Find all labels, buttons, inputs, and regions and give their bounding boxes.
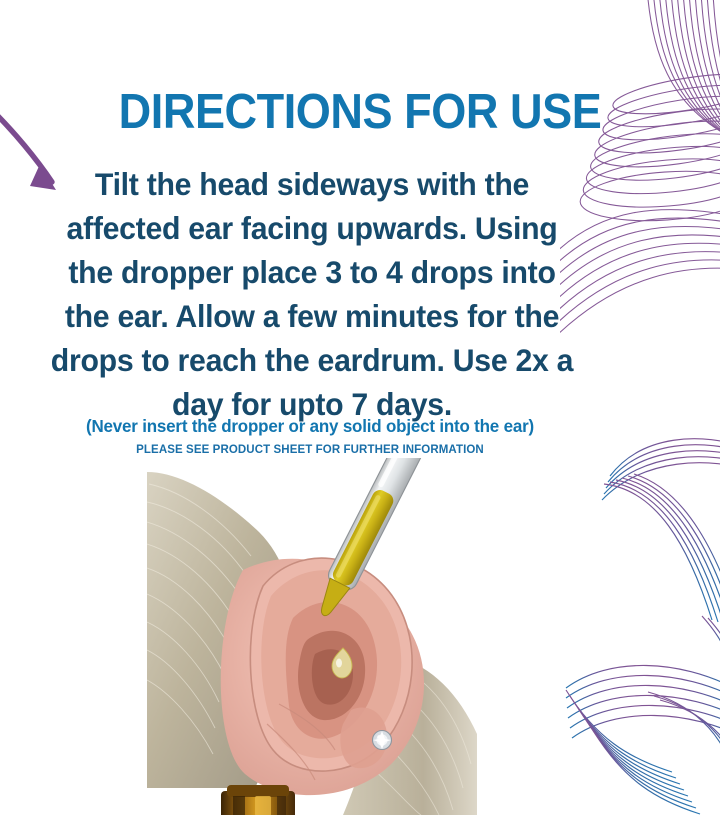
warning-note: (Never insert the dropper or any solid o…: [38, 415, 581, 437]
ear-drops-application-photo: [147, 458, 477, 815]
product-sheet-fineprint: PLEASE SEE PRODUCT SHEET FOR FURTHER INF…: [30, 442, 590, 458]
diamond-stud-earring: [373, 731, 392, 750]
ear-photo-illustration: [147, 458, 477, 815]
amber-bottle: [221, 785, 295, 815]
instructions-text: Tilt the head sideways with the affected…: [45, 162, 579, 426]
page-title: DIRECTIONS FOR USE: [29, 85, 691, 139]
purple-wireframe-spiral-decoration: [560, 0, 720, 346]
poster-page: DIRECTIONS FOR USE Tilt the head sideway…: [0, 0, 720, 815]
blue-purple-wave-ribbon-decoration: [552, 420, 720, 820]
